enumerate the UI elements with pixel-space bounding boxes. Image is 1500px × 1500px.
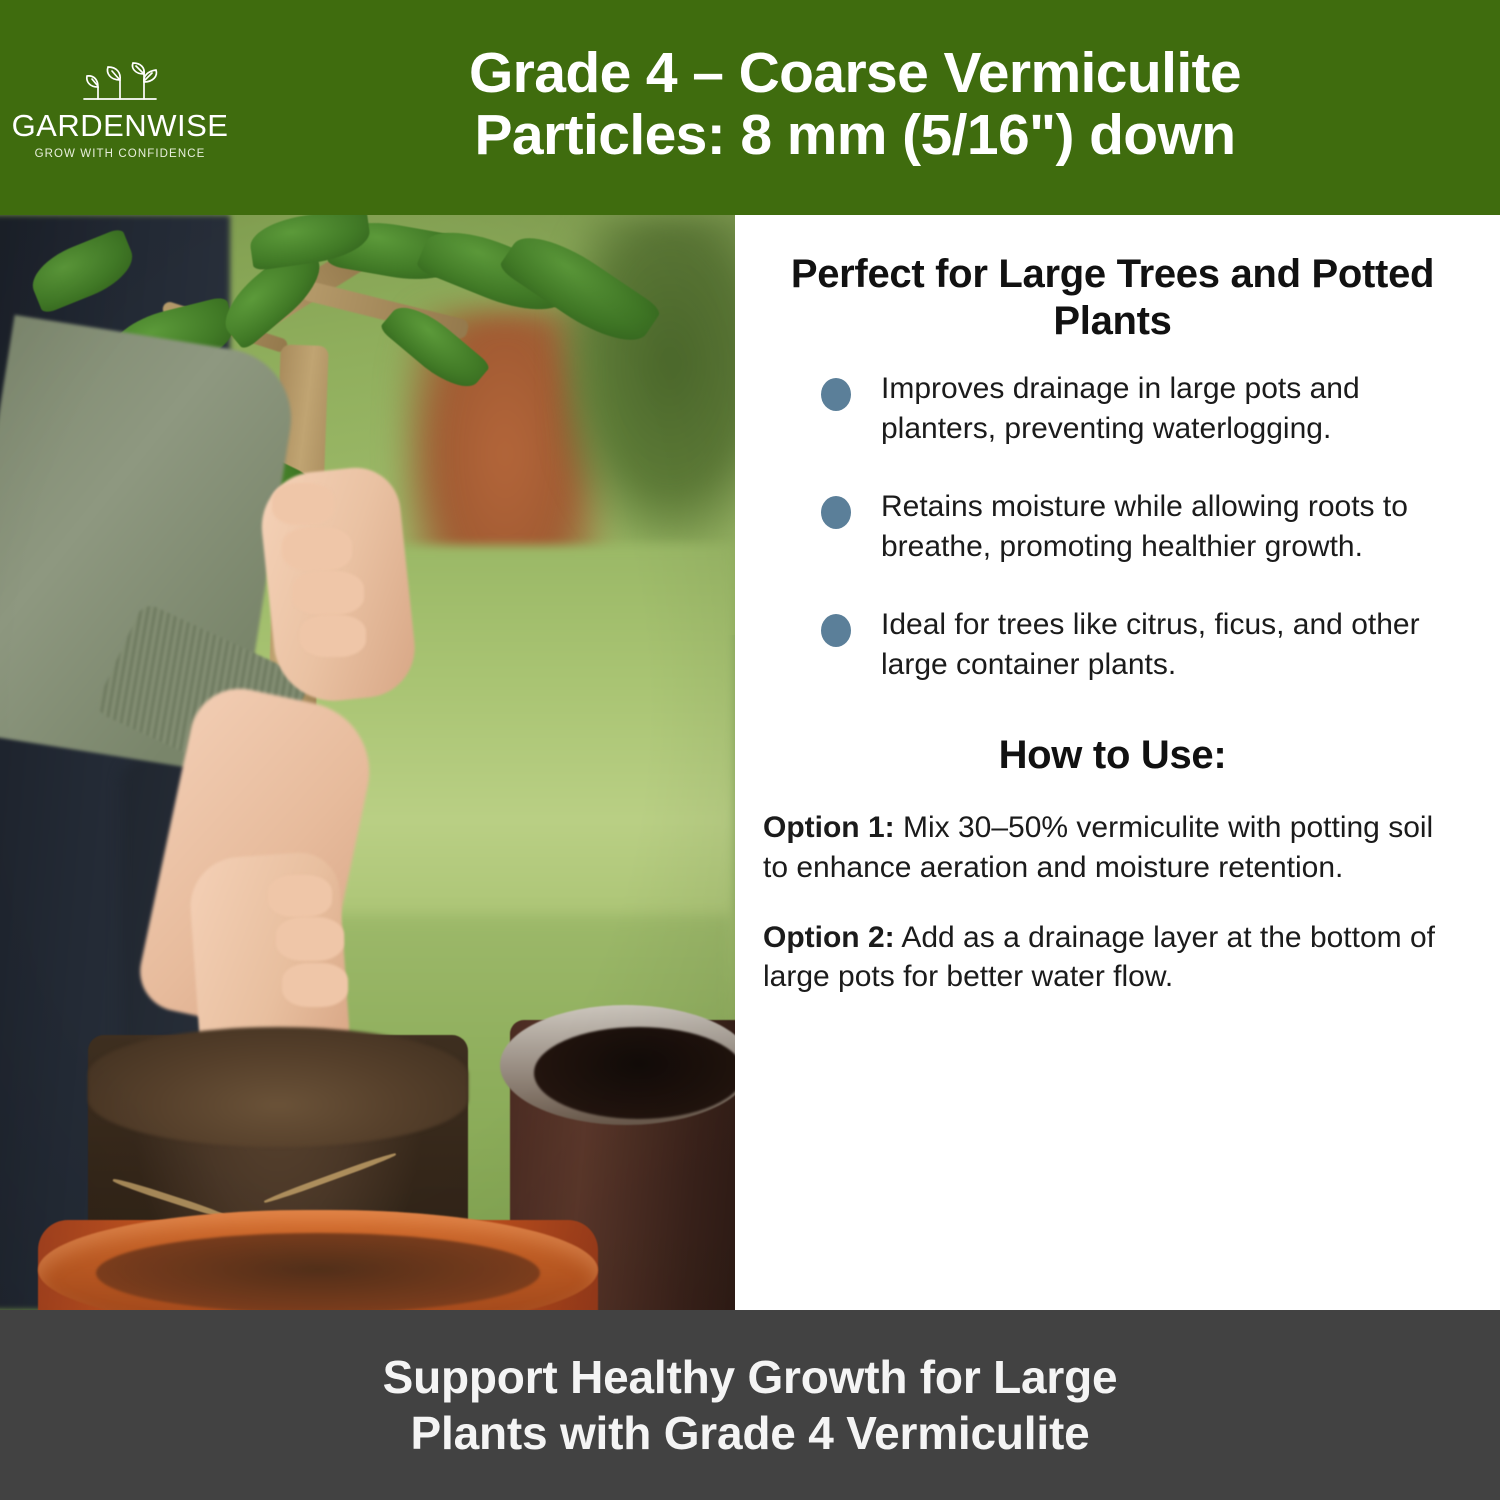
details-panel: Perfect for Large Trees and Potted Plant… xyxy=(735,215,1500,1310)
header-banner: GARDENWISE GROW WITH CONFIDENCE Grade 4 … xyxy=(0,0,1500,215)
footer-line-1: Support Healthy Growth for Large xyxy=(383,1349,1118,1405)
benefit-text: Improves drainage in large pots and plan… xyxy=(881,369,1462,449)
benefit-item: Improves drainage in large pots and plan… xyxy=(763,369,1462,449)
header-title-line-2: Particles: 8 mm (5/16") down xyxy=(240,105,1470,167)
benefits-list: Improves drainage in large pots and plan… xyxy=(763,369,1462,684)
footer-line-2: Plants with Grade 4 Vermiculite xyxy=(411,1405,1090,1461)
bullet-dot-icon xyxy=(821,378,851,411)
seedling-sprouts-icon xyxy=(72,62,168,108)
how-to-use-title: How to Use: xyxy=(763,733,1462,778)
footer-banner: Support Healthy Growth for Large Plants … xyxy=(0,1310,1500,1500)
bullet-dot-icon xyxy=(821,496,851,529)
product-infographic: GARDENWISE GROW WITH CONFIDENCE Grade 4 … xyxy=(0,0,1500,1500)
brand-name: GARDENWISE xyxy=(12,110,229,141)
usage-option-label: Option 2: xyxy=(763,921,895,954)
section-title: Perfect for Large Trees and Potted Plant… xyxy=(763,251,1462,345)
benefit-item: Ideal for trees like citrus, ficus, and … xyxy=(763,605,1462,685)
product-photo xyxy=(0,215,735,1310)
brand-tagline: GROW WITH CONFIDENCE xyxy=(35,148,206,160)
main-content-area: Perfect for Large Trees and Potted Plant… xyxy=(0,215,1500,1310)
usage-option: Option 2: Add as a drainage layer at the… xyxy=(763,918,1462,998)
benefit-text: Retains moisture while allowing roots to… xyxy=(881,487,1462,567)
brand-logo: GARDENWISE GROW WITH CONFIDENCE xyxy=(0,56,240,160)
benefit-item: Retains moisture while allowing roots to… xyxy=(763,487,1462,567)
bullet-dot-icon xyxy=(821,614,851,647)
header-title-group: Grade 4 – Coarse Vermiculite Particles: … xyxy=(240,43,1500,172)
usage-option: Option 1: Mix 30–50% vermiculite with po… xyxy=(763,808,1462,888)
benefit-text: Ideal for trees like citrus, ficus, and … xyxy=(881,605,1462,685)
usage-option-label: Option 1: xyxy=(763,811,895,844)
header-title-line-1: Grade 4 – Coarse Vermiculite xyxy=(240,43,1470,105)
